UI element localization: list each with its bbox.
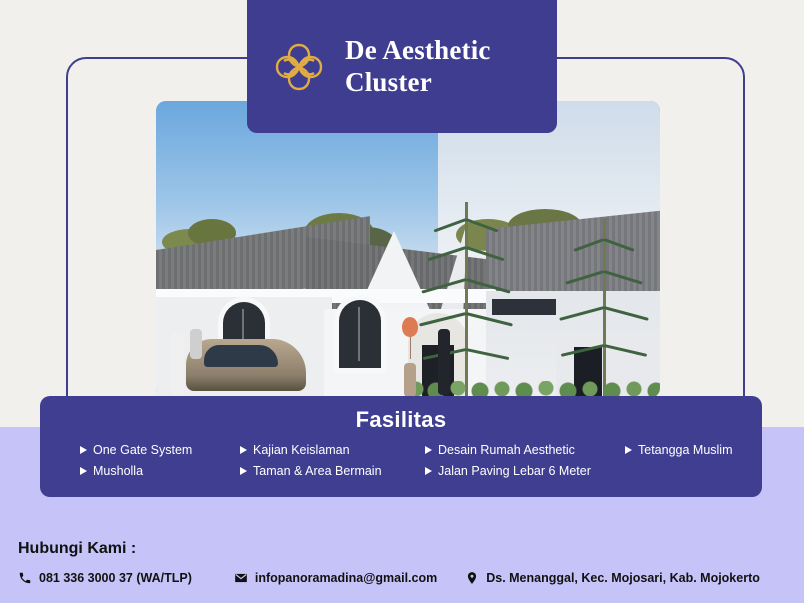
facility-label: Tetangga Muslim — [638, 443, 733, 457]
facility-item: Tetangga Muslim — [625, 443, 790, 457]
facility-item: Taman & Area Bermain — [240, 464, 425, 478]
triangle-right-icon — [425, 467, 432, 475]
contact-email-value: infopanoramadina@gmail.com — [255, 571, 437, 585]
hero-image — [156, 101, 660, 398]
facility-item: Desain Rumah Aesthetic — [425, 443, 625, 457]
person-figure — [170, 333, 184, 395]
parked-car — [186, 339, 306, 391]
triangle-right-icon — [240, 467, 247, 475]
facility-label: Desain Rumah Aesthetic — [438, 443, 575, 457]
contact-footer: Hubungi Kami : 081 336 3000 37 (WA/TLP) — [0, 527, 804, 603]
person-figure — [190, 329, 202, 359]
facility-label: Musholla — [93, 464, 143, 478]
phone-icon — [18, 571, 32, 585]
triangle-right-icon — [425, 446, 432, 454]
brand-name: De Aesthetic Cluster — [345, 35, 491, 98]
brand-name-line2: Cluster — [345, 67, 491, 98]
contact-address[interactable]: Ds. Menanggal, Kec. Mojosari, Kab. Mojok… — [465, 571, 760, 585]
triangle-right-icon — [80, 467, 87, 475]
conifer-tree — [556, 218, 652, 398]
facility-label: Kajian Keislaman — [253, 443, 350, 457]
contact-address-value: Ds. Menanggal, Kec. Mojosari, Kab. Mojok… — [486, 571, 760, 585]
facility-item: Jalan Paving Lebar 6 Meter — [425, 464, 625, 478]
envelope-icon — [234, 571, 248, 585]
facilities-grid: One Gate System Kajian Keislaman Desain … — [40, 443, 762, 478]
brand-name-line1: De Aesthetic — [345, 35, 491, 66]
facility-item: Musholla — [80, 464, 240, 478]
facilities-title: Fasilitas — [40, 407, 762, 433]
triangle-right-icon — [625, 446, 632, 454]
person-figure — [404, 363, 416, 397]
facility-label: One Gate System — [93, 443, 192, 457]
triangle-right-icon — [240, 446, 247, 454]
contact-email[interactable]: infopanoramadina@gmail.com — [234, 571, 437, 585]
poster-canvas: De Aesthetic Cluster Fasilitas One Gate … — [0, 0, 804, 603]
triangle-right-icon — [80, 446, 87, 454]
brand-header: De Aesthetic Cluster — [247, 0, 557, 133]
location-pin-icon — [465, 571, 479, 585]
flower-logo-icon — [269, 37, 329, 97]
contact-heading: Hubungi Kami : — [18, 540, 136, 558]
facility-label: Taman & Area Bermain — [253, 464, 382, 478]
contact-phone-value: 081 336 3000 37 (WA/TLP) — [39, 571, 192, 585]
facilities-panel: Fasilitas One Gate System Kajian Keislam… — [40, 396, 762, 497]
arched-window — [334, 295, 386, 373]
contact-row: 081 336 3000 37 (WA/TLP) infopanoramadin… — [18, 571, 798, 585]
facility-label: Jalan Paving Lebar 6 Meter — [438, 464, 591, 478]
person-figure — [438, 329, 450, 395]
contact-phone[interactable]: 081 336 3000 37 (WA/TLP) — [18, 571, 192, 585]
facility-item: One Gate System — [80, 443, 240, 457]
facility-item: Kajian Keislaman — [240, 443, 425, 457]
balloon — [402, 317, 418, 337]
conifer-tree — [418, 202, 514, 398]
